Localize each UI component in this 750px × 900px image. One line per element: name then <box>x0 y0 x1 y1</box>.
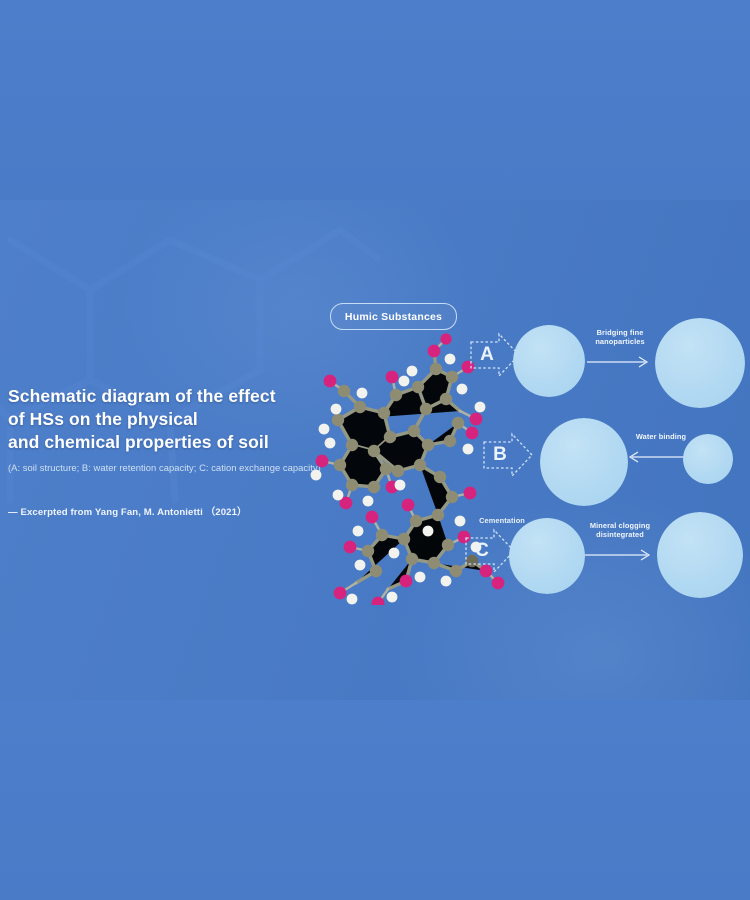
page-title: Schematic diagram of the effect of HSs o… <box>8 385 348 454</box>
flow-label-c: Mineral clogging disintegrated <box>574 521 666 540</box>
circle-disintegrated-minerals <box>657 512 743 598</box>
title-line-3: and chemical properties of soil <box>8 431 348 454</box>
row-marker-c: C <box>464 528 516 574</box>
circle-hydrated-cation <box>683 434 733 484</box>
flow-arrow-c <box>585 548 655 562</box>
poster-canvas: Schematic diagram of the effect of HSs o… <box>0 0 750 900</box>
background-band-top <box>0 0 750 200</box>
humic-substances-label: Humic Substances <box>345 311 442 323</box>
background-band-bottom <box>0 700 750 900</box>
title-line-1: Schematic diagram of the effect <box>8 385 348 408</box>
flow-label-b: Water binding <box>630 432 692 441</box>
flow-label-a-line1: Bridging fine <box>583 328 657 337</box>
source-credit: — Excerpted from Yang Fan, M. Antonietti… <box>8 504 348 518</box>
circle-soil-particles-aggregated <box>655 318 745 408</box>
flow-label-a: Bridging fine nanoparticles <box>583 328 657 347</box>
flow-arrow-a <box>587 355 653 369</box>
flow-label-a-line2: nanoparticles <box>583 337 657 346</box>
circle-humic-water-film <box>540 418 628 506</box>
subtitle-legend: (A: soil structure; B: water retention c… <box>8 461 348 474</box>
row-marker-a-label: A <box>474 341 500 369</box>
text-block: Schematic diagram of the effect of HSs o… <box>8 385 348 518</box>
row-marker-b-label: B <box>487 441 513 469</box>
flow-label-b-line1: Water binding <box>630 432 692 441</box>
row-marker-b: B <box>482 432 534 478</box>
title-line-2: of HSs on the physical <box>8 408 348 431</box>
flow-label-c-line1: Mineral clogging <box>574 521 666 530</box>
row-marker-c-label: C <box>469 537 495 565</box>
flow-arrow-b <box>628 450 688 464</box>
flow-label-c-line2: disintegrated <box>574 530 666 539</box>
circle-soil-particles-loose <box>513 325 585 397</box>
